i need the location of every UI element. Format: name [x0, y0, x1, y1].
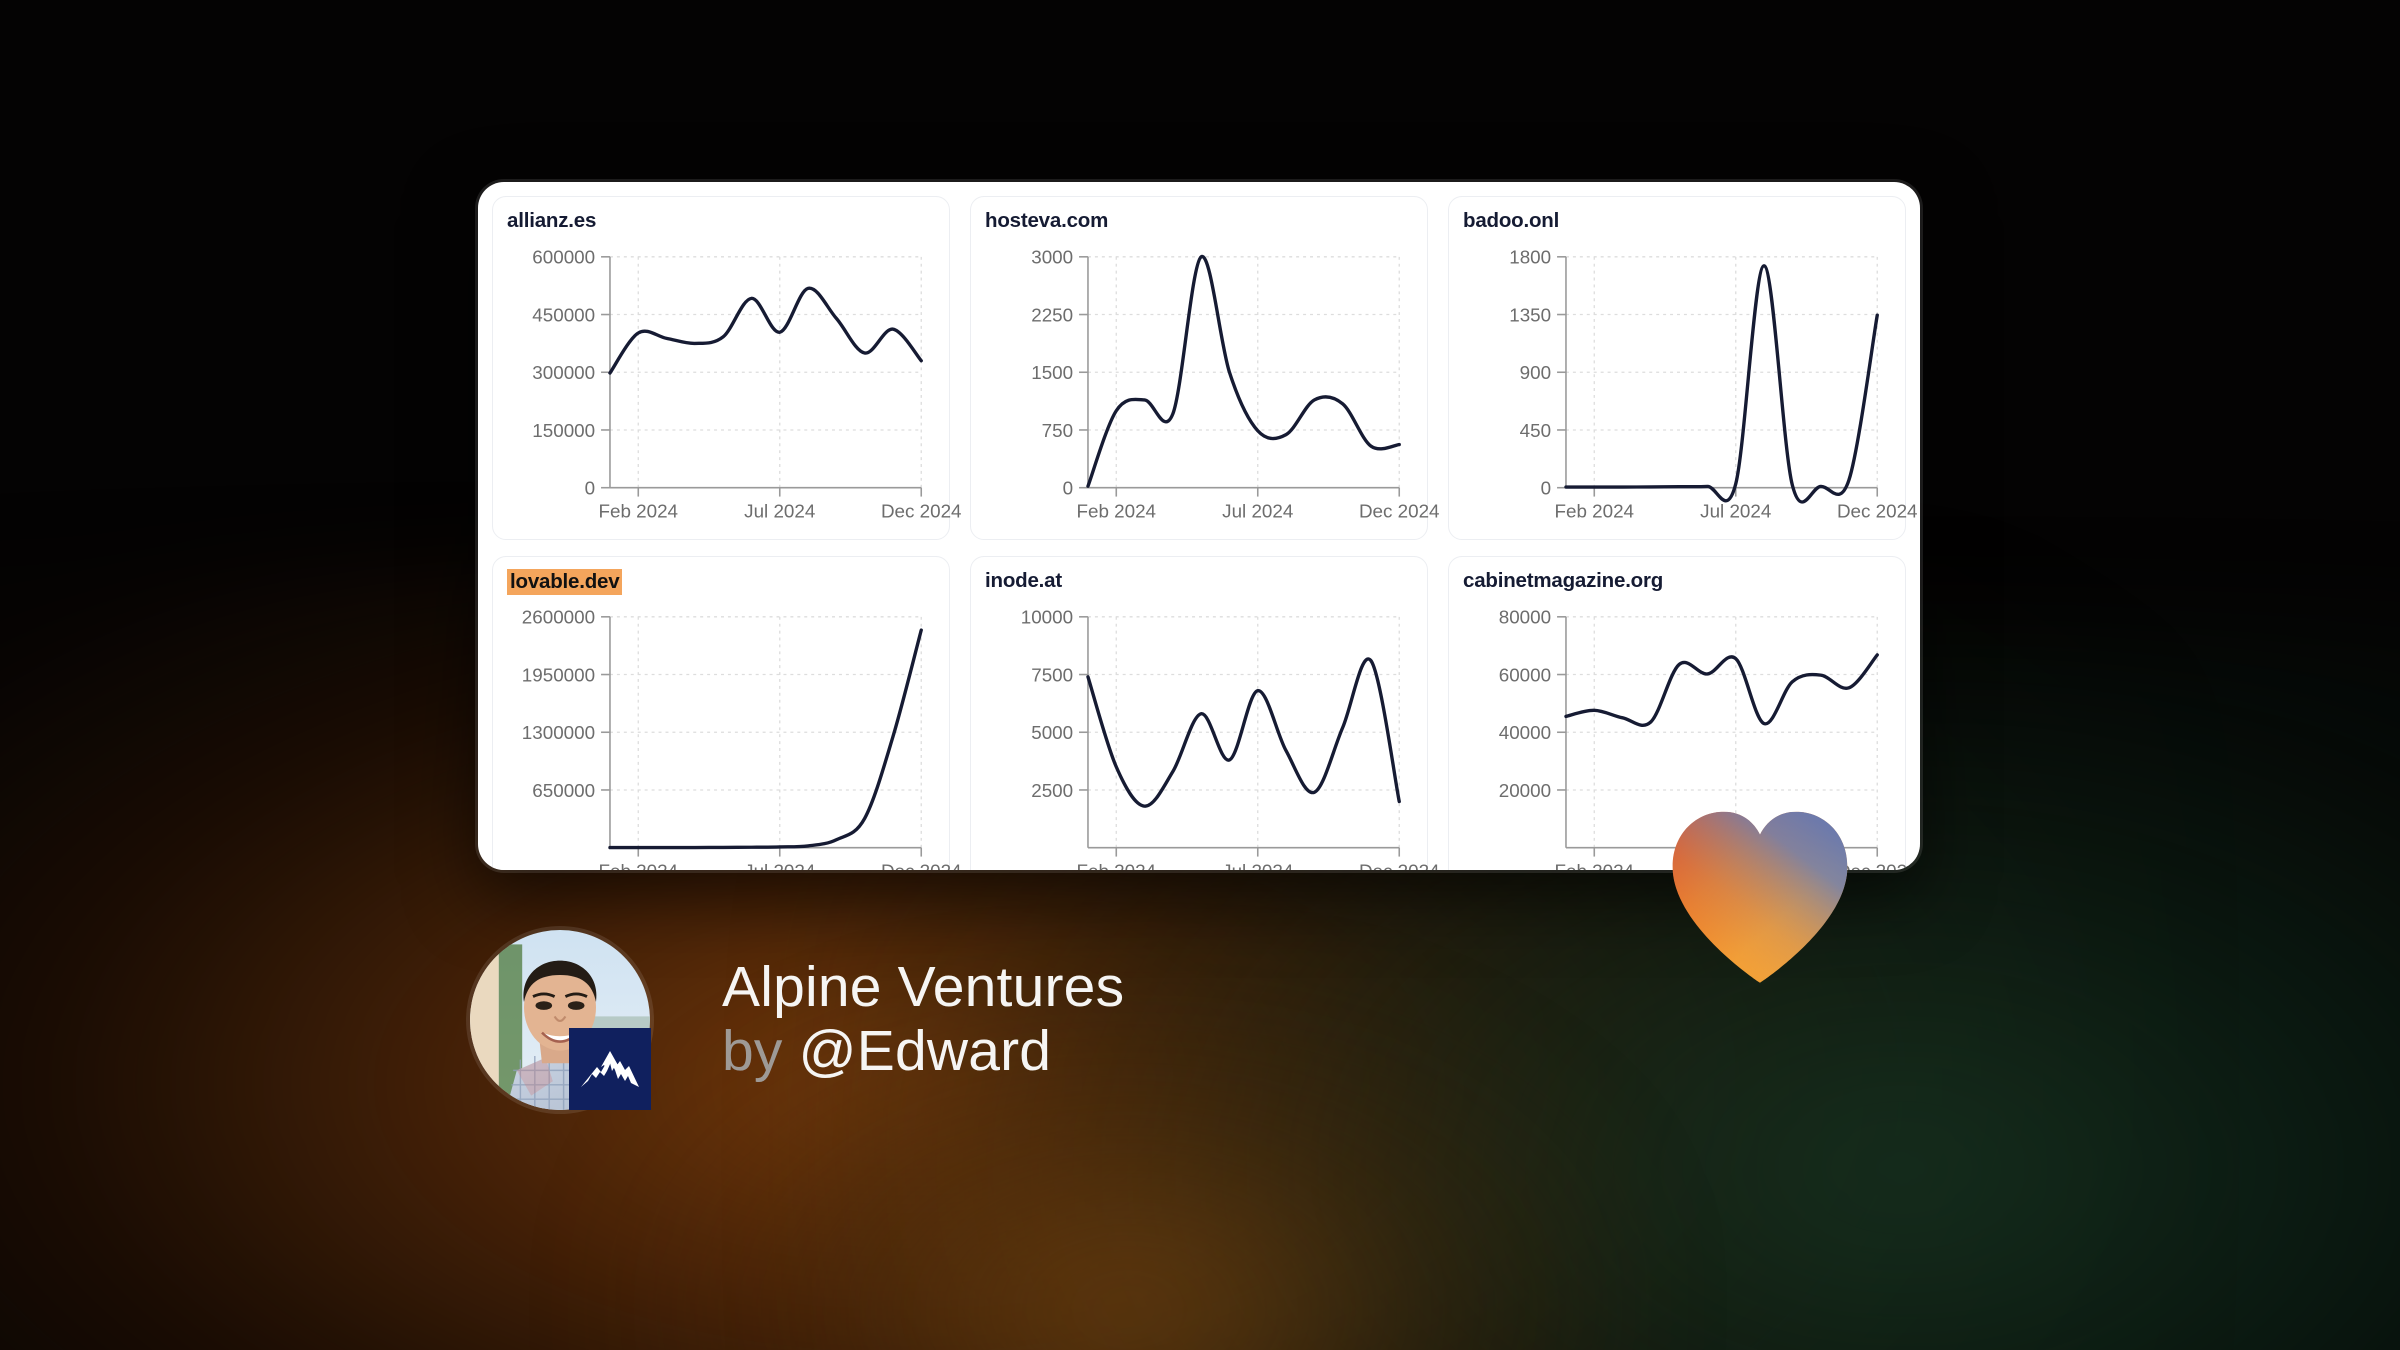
- svg-text:2500: 2500: [1031, 780, 1073, 801]
- svg-text:300000: 300000: [532, 362, 595, 383]
- svg-text:Dec 2024: Dec 2024: [1359, 860, 1440, 870]
- chart-plot[interactable]: 0150000300000450000600000Feb 2024Jul 202…: [493, 243, 949, 539]
- svg-text:Feb 2024: Feb 2024: [1554, 860, 1634, 870]
- svg-text:Feb 2024: Feb 2024: [1076, 860, 1156, 870]
- svg-text:80000: 80000: [1499, 607, 1551, 628]
- svg-text:20000: 20000: [1499, 780, 1551, 801]
- svg-text:Jul 2024: Jul 2024: [1700, 500, 1771, 521]
- svg-text:0: 0: [585, 478, 595, 499]
- svg-text:Feb 2024: Feb 2024: [598, 500, 678, 521]
- chart-card[interactable]: inode.at25005000750010000Feb 2024Jul 202…: [970, 556, 1428, 870]
- branding-block: Alpine Ventures by @Edward: [470, 930, 1124, 1110]
- svg-text:0: 0: [1063, 478, 1073, 499]
- svg-text:1500: 1500: [1031, 362, 1073, 383]
- mountain-logo-icon: [569, 1028, 651, 1110]
- chart-title: lovable.dev: [507, 569, 622, 595]
- svg-text:900: 900: [1520, 362, 1551, 383]
- brand-author-line: by @Edward: [722, 1020, 1124, 1084]
- brand-by-label: by: [722, 1019, 783, 1083]
- chart-card[interactable]: badoo.onl045090013501800Feb 2024Jul 2024…: [1448, 196, 1906, 540]
- svg-text:Jul 2024: Jul 2024: [744, 860, 815, 870]
- svg-text:650000: 650000: [532, 780, 595, 801]
- svg-text:2600000: 2600000: [522, 607, 595, 628]
- chart-title: allianz.es: [507, 209, 596, 233]
- svg-text:5000: 5000: [1031, 722, 1073, 743]
- svg-text:1300000: 1300000: [522, 722, 595, 743]
- brand-handle: @Edward: [799, 1019, 1052, 1083]
- svg-text:60000: 60000: [1499, 664, 1551, 685]
- chart-card[interactable]: lovable.dev650000130000019500002600000Fe…: [492, 556, 950, 870]
- chart-title: cabinetmagazine.org: [1463, 569, 1663, 593]
- svg-text:Dec 2024: Dec 2024: [1837, 500, 1918, 521]
- chart-title: badoo.onl: [1463, 209, 1559, 233]
- chart-title: inode.at: [985, 569, 1062, 593]
- svg-text:600000: 600000: [532, 247, 595, 268]
- svg-text:1950000: 1950000: [522, 664, 595, 685]
- svg-text:450: 450: [1520, 420, 1551, 441]
- svg-text:Dec 2024: Dec 2024: [1359, 500, 1440, 521]
- chart-plot[interactable]: 650000130000019500002600000Feb 2024Jul 2…: [493, 603, 949, 870]
- svg-text:40000: 40000: [1499, 722, 1551, 743]
- chart-grid: allianz.es0150000300000450000600000Feb 2…: [478, 182, 1920, 870]
- svg-text:Jul 2024: Jul 2024: [1222, 860, 1293, 870]
- svg-text:Feb 2024: Feb 2024: [598, 860, 678, 870]
- website-traffic-dashboard-panel: allianz.es0150000300000450000600000Feb 2…: [478, 182, 1920, 870]
- svg-text:7500: 7500: [1031, 664, 1073, 685]
- brand-text: Alpine Ventures by @Edward: [722, 956, 1124, 1084]
- chart-plot[interactable]: 045090013501800Feb 2024Jul 2024Dec 2024: [1449, 243, 1905, 539]
- svg-text:1800: 1800: [1509, 247, 1551, 268]
- svg-text:Jul 2024: Jul 2024: [1222, 500, 1293, 521]
- heart-icon: [1665, 808, 1855, 980]
- chart-plot[interactable]: 25005000750010000Feb 2024Jul 2024Dec 202…: [971, 603, 1427, 870]
- svg-text:Feb 2024: Feb 2024: [1076, 500, 1156, 521]
- brand-name-line: Alpine Ventures: [722, 956, 1124, 1020]
- chart-card[interactable]: allianz.es0150000300000450000600000Feb 2…: [492, 196, 950, 540]
- chart-title: hosteva.com: [985, 209, 1108, 233]
- avatar-with-badge: [470, 930, 650, 1110]
- svg-text:Dec 2024: Dec 2024: [881, 860, 962, 870]
- svg-text:2250: 2250: [1031, 304, 1073, 325]
- svg-text:1350: 1350: [1509, 304, 1551, 325]
- svg-text:0: 0: [1541, 478, 1551, 499]
- svg-text:Jul 2024: Jul 2024: [744, 500, 815, 521]
- svg-text:10000: 10000: [1021, 607, 1073, 628]
- svg-text:150000: 150000: [532, 420, 595, 441]
- chart-card[interactable]: hosteva.com0750150022503000Feb 2024Jul 2…: [970, 196, 1428, 540]
- chart-plot[interactable]: 0750150022503000Feb 2024Jul 2024Dec 2024: [971, 243, 1427, 539]
- svg-text:750: 750: [1042, 420, 1073, 441]
- svg-text:Dec 2024: Dec 2024: [881, 500, 962, 521]
- svg-text:Feb 2024: Feb 2024: [1554, 500, 1634, 521]
- svg-text:450000: 450000: [532, 304, 595, 325]
- brand-name: Alpine Ventures: [722, 955, 1124, 1019]
- svg-text:3000: 3000: [1031, 247, 1073, 268]
